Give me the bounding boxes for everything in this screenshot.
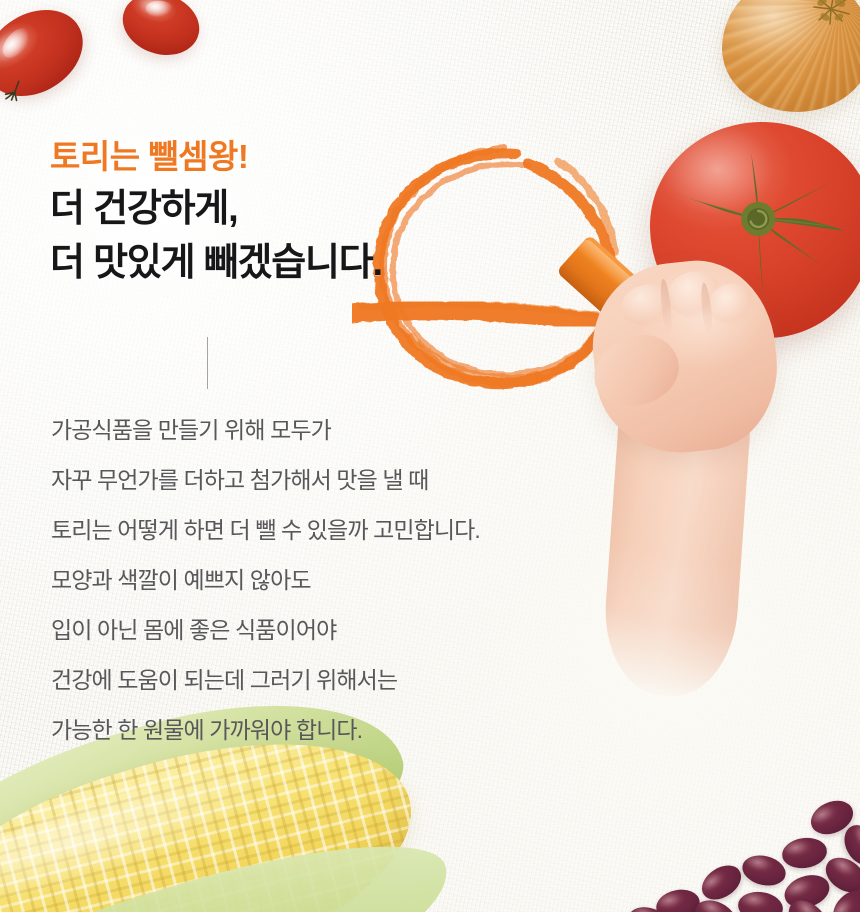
tomato-body <box>650 122 860 338</box>
headline-line-1: 더 건강하게, <box>50 183 382 237</box>
bean <box>806 794 859 840</box>
body-line: 가공식품을 만들기 위해 모두가 <box>51 405 480 455</box>
bean <box>819 851 860 900</box>
bean <box>782 893 835 912</box>
bean <box>696 858 748 906</box>
bean <box>780 835 829 871</box>
body-line: 모양과 색깔이 예쁘지 않아도 <box>51 555 480 605</box>
orange-crayon-image <box>537 215 700 377</box>
crayon-highlight-facet <box>576 237 667 321</box>
bean <box>838 819 860 870</box>
crayon-shaft <box>556 235 670 344</box>
bean <box>736 889 785 912</box>
bean <box>690 894 741 912</box>
knuckle <box>707 281 758 328</box>
crayon-tip <box>622 293 691 363</box>
body-copy: 가공식품을 만들기 위해 모두가 자꾸 무언가를 더하고 첨가해서 맛을 낼 때… <box>51 405 480 755</box>
finger-seam <box>659 279 674 337</box>
forearm-shading <box>600 392 753 700</box>
cherry-tomato-highlight <box>0 23 36 63</box>
cherry-tomato-stem-icon <box>0 76 32 108</box>
finger-seam <box>699 282 714 336</box>
onion-image <box>722 0 860 112</box>
kidney-beans-image <box>634 804 860 912</box>
cherry-tomato-body <box>115 0 208 65</box>
body-line: 입이 아닌 몸에 좋은 식품이어야 <box>51 605 480 655</box>
body-line: 자꾸 무언가를 더하고 첨가해서 맛을 낼 때 <box>51 455 480 505</box>
cherry-tomato-body <box>0 0 99 114</box>
headline-line-2: 더 맛있게 빼겠습니다. <box>50 237 382 291</box>
body-line: 건강에 도움이 되는데 그러기 위해서는 <box>51 655 480 705</box>
child-hand-image <box>586 268 792 696</box>
knuckle <box>665 269 724 320</box>
bean <box>826 883 860 912</box>
bean <box>739 851 789 890</box>
cherry-tomato-highlight <box>145 1 172 17</box>
body-line: 가능한 한 원물에 가까워야 합니다. <box>51 705 480 755</box>
headline-eyebrow: 토리는 뺄셈왕! <box>50 138 382 177</box>
knuckle <box>619 282 678 329</box>
onion-body <box>722 0 860 112</box>
headline-block: 토리는 뺄셈왕! 더 건강하게, 더 맛있게 빼겠습니다. <box>50 138 382 291</box>
tomato-image <box>650 122 860 338</box>
hand-drawn-circle-annotation <box>352 132 652 404</box>
onion-skin-striations <box>722 0 860 112</box>
corn-husk-front <box>0 808 470 912</box>
bean <box>625 902 674 912</box>
bean <box>780 870 833 912</box>
thumb <box>584 325 688 418</box>
promo-poster: 토리는 뺄셈왕! 더 건강하게, 더 맛있게 빼겠습니다. 가공식품을 만들기 … <box>0 0 860 912</box>
cherry-tomato-right-image <box>115 0 208 65</box>
hand <box>585 253 786 461</box>
tomato-calyx-icon <box>663 149 853 299</box>
corn-highlight <box>0 750 288 912</box>
bean <box>653 886 702 912</box>
vertical-divider <box>207 337 208 389</box>
forearm <box>600 392 753 700</box>
onion-root-tuft-icon <box>808 0 854 30</box>
cherry-tomato-left-image <box>0 0 99 114</box>
body-line: 토리는 어떻게 하면 더 뺄 수 있을까 고민합니다. <box>51 505 480 555</box>
